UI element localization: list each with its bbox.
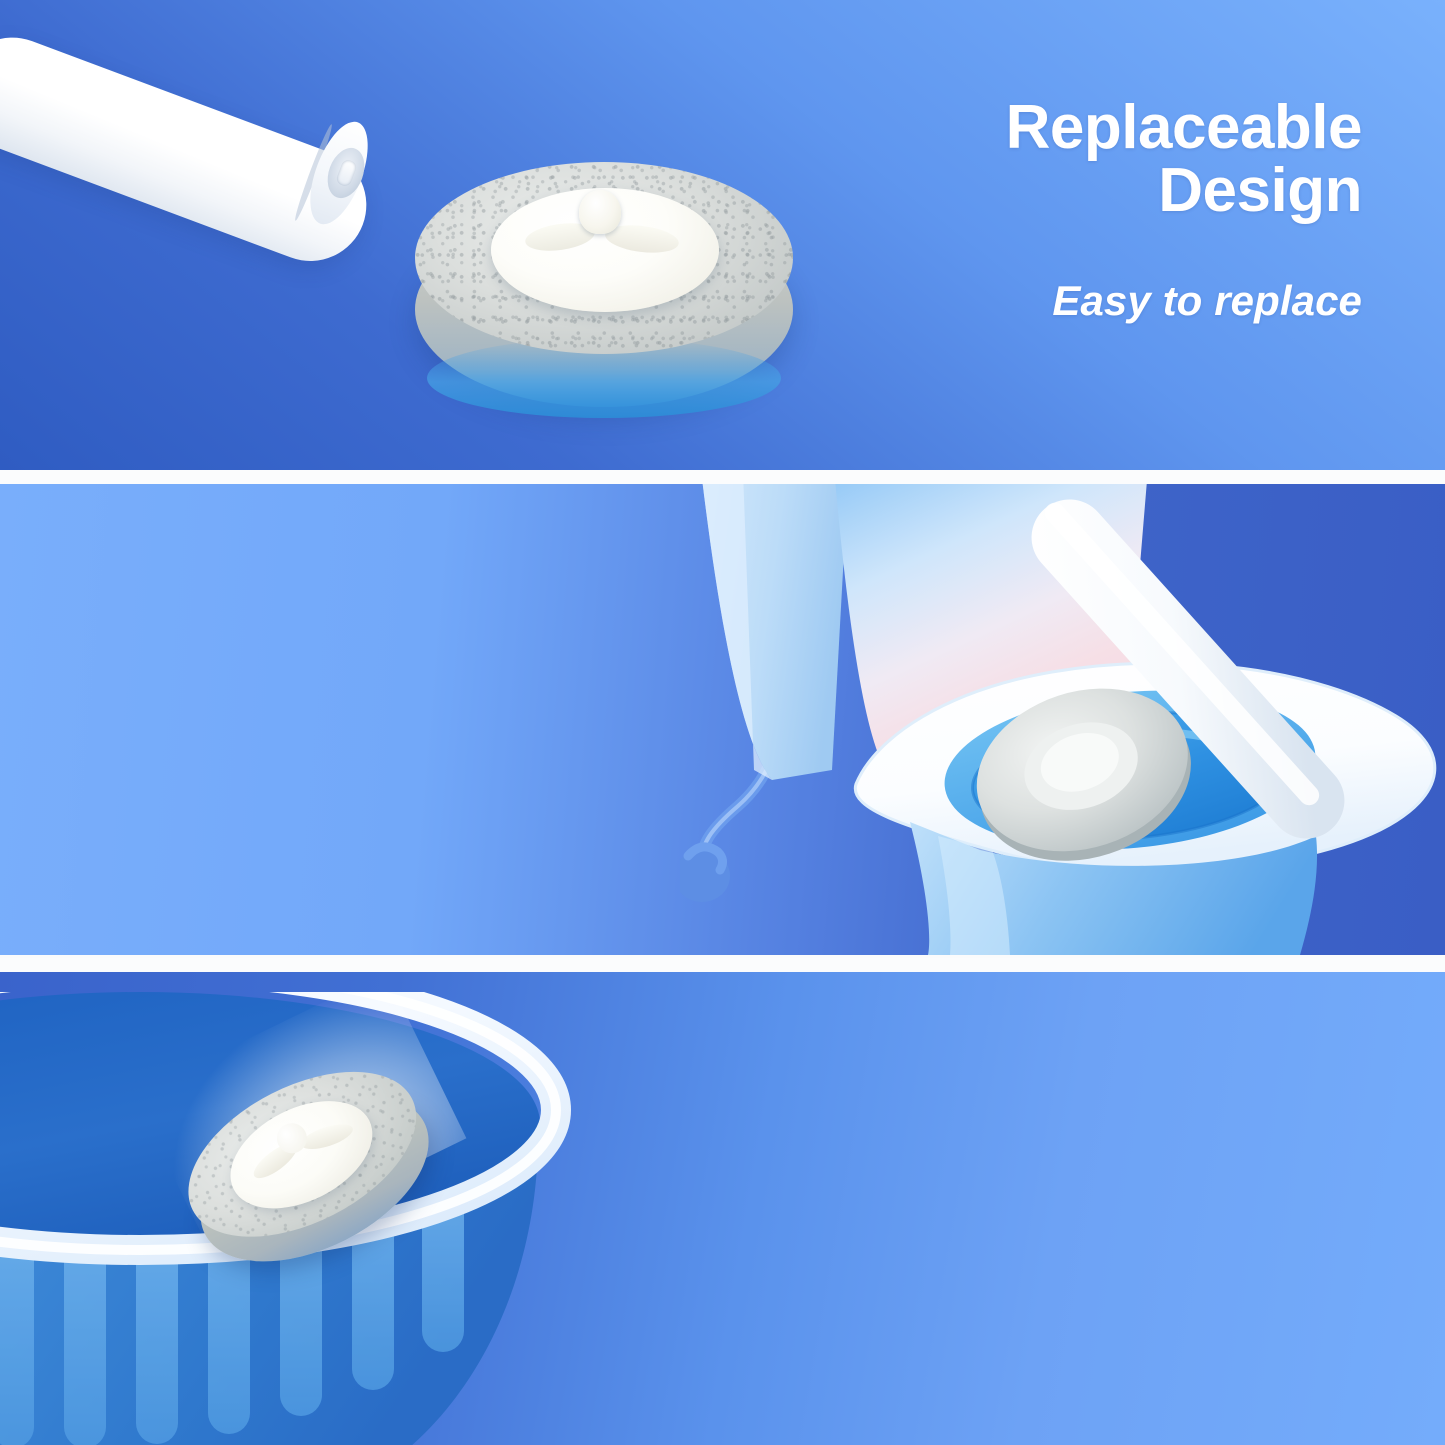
product-feature-infographic: Replaceable Design Easy to replace <box>0 0 1445 1445</box>
panel-one-click-discard: One-click discard Clean and hygienic <box>0 972 1445 1445</box>
replaceable-text-block: Replaceable Design Easy to replace <box>722 96 1362 327</box>
handle-wand-illustration <box>0 0 420 250</box>
replaceable-heading: Replaceable Design <box>722 96 1362 222</box>
panel-higher-cleaning-efficiency: Higher cleaning Efficiency Multiple angl… <box>0 484 1445 955</box>
replaceable-subtitle: Easy to replace <box>722 275 1362 326</box>
toilet-cleaning-illustration <box>680 484 1445 955</box>
pad-knob <box>579 190 621 234</box>
panel-divider-2 <box>0 958 1445 972</box>
panel-divider-1 <box>0 470 1445 484</box>
panel-replaceable-design: Replaceable Design Easy to replace <box>0 0 1445 470</box>
falling-sponge-pad <box>185 1077 445 1277</box>
